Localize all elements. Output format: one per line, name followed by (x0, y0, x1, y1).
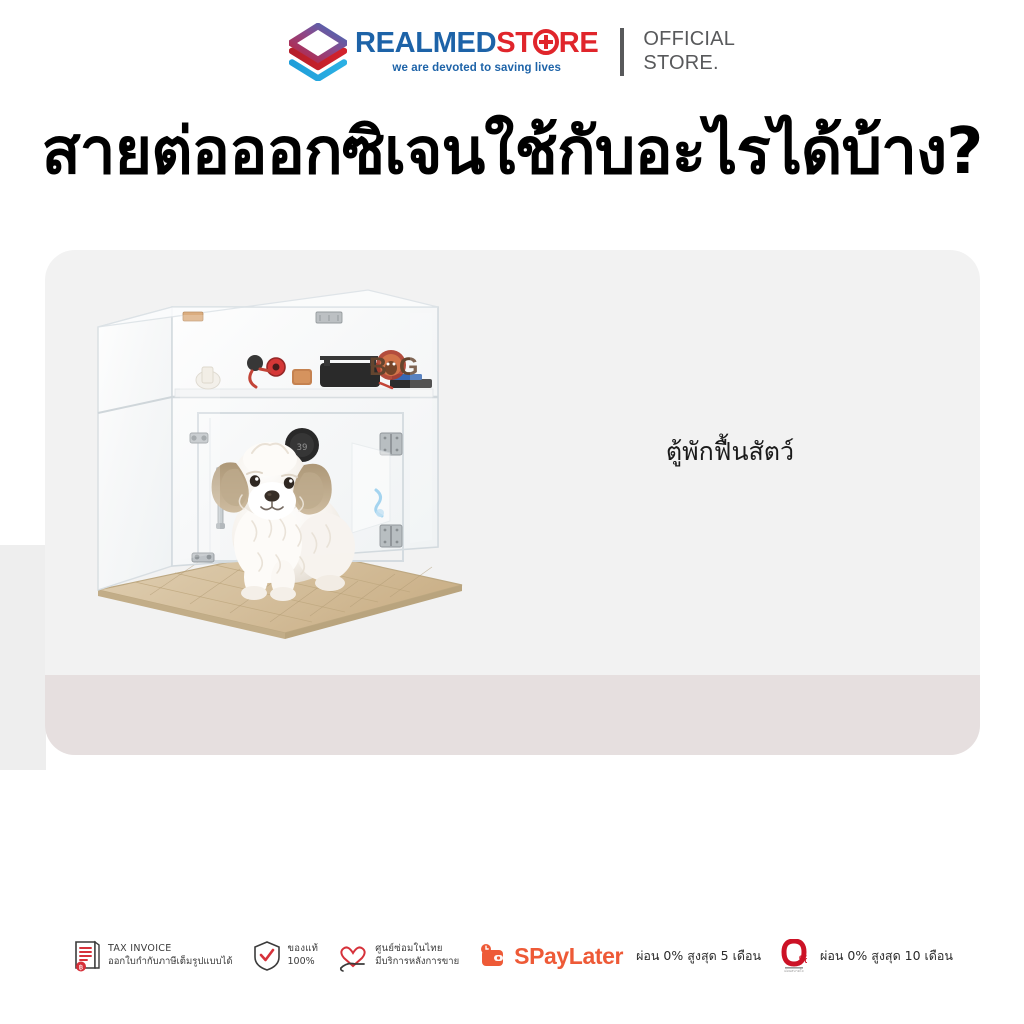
footer-trust-badges: ฿ TAX INVOICE ออกใบกำกับภาษีเต็มรูปแบบได… (0, 928, 1024, 984)
badge-spaylater: SPayLater ผ่อน 0% สูงสุด 5 เดือน (479, 943, 761, 970)
official-store-line2: STORE. (643, 52, 735, 76)
svg-text:฿: ฿ (79, 964, 83, 972)
badge-tax-invoice-line2: ออกใบกำกับภาษีเต็มรูปแบบได้ (108, 956, 233, 969)
badge-service-center-line1: ศูนย์ซ่อมในไทย (375, 943, 459, 956)
brand-wordmark: REALMEDSTRE we are devoted to saving liv… (355, 29, 598, 75)
badge-zero-percent: % ผ่อนสบายใจ ผ่อน 0% สูงสุด 10 เดือน (781, 939, 953, 973)
brand-name-med: MED (433, 27, 497, 59)
official-store-line1: OFFICIAL (643, 28, 735, 52)
promo-banner-page: REALMEDSTRE we are devoted to saving liv… (0, 0, 1024, 1024)
card-bottom-band (45, 675, 980, 755)
product-label: ตู้พักฟื้นสัตว์ (560, 432, 900, 472)
product-photo: B G (80, 285, 480, 655)
badge-genuine: ของแท้ 100% (253, 940, 319, 972)
svg-text:%: % (799, 954, 807, 966)
brand-name-real: REAL (355, 27, 433, 59)
badge-service-center: ศูนย์ซ่อมในไทย มีบริการหลังการขาย (338, 940, 459, 972)
brand-name: REALMEDSTRE (355, 29, 598, 58)
spaylater-brand: SPayLater (514, 943, 623, 970)
badge-tax-invoice: ฿ TAX INVOICE ออกใบกำกับภาษีเต็มรูปแบบได… (71, 939, 233, 973)
badge-tax-invoice-line1: TAX INVOICE (108, 943, 233, 956)
brand-name-st: ST (496, 27, 532, 59)
tax-invoice-icon: ฿ (71, 939, 101, 973)
zero-percent-icon: % ผ่อนสบายใจ (781, 939, 807, 973)
left-edge-panel (0, 545, 46, 770)
badge-tax-invoice-text: TAX INVOICE ออกใบกำกับภาษีเต็มรูปแบบได้ (108, 943, 233, 969)
medical-cross-o-icon (533, 29, 559, 55)
zero-percent-terms: ผ่อน 0% สูงสุด 10 เดือน (820, 946, 953, 966)
official-store-label: OFFICIAL STORE. (643, 28, 735, 75)
badge-genuine-line2: 100% (288, 956, 319, 969)
spaylater-wallet-icon (479, 944, 505, 968)
badge-genuine-text: ของแท้ 100% (288, 943, 319, 969)
page-headline: สายต่อออกซิเจนใช้กับอะไรได้บ้าง? (0, 118, 1024, 187)
brand-tagline: we are devoted to saving lives (392, 63, 561, 75)
spaylater-terms: ผ่อน 0% สูงสุด 5 เดือน (636, 946, 761, 966)
svg-text:ผ่อนสบายใจ: ผ่อนสบายใจ (784, 968, 803, 973)
stacked-diamonds-logo-icon (289, 23, 347, 81)
brand-header: REALMEDSTRE we are devoted to saving liv… (0, 16, 1024, 88)
badge-genuine-line1: ของแท้ (288, 943, 319, 956)
badge-service-center-line2: มีบริการหลังการขาย (375, 956, 459, 969)
badge-service-center-text: ศูนย์ซ่อมในไทย มีบริการหลังการขาย (375, 943, 459, 969)
shield-check-icon (253, 940, 281, 972)
heart-hand-icon (338, 940, 368, 972)
brand-name-re: RE (559, 27, 599, 59)
header-divider (620, 28, 624, 76)
